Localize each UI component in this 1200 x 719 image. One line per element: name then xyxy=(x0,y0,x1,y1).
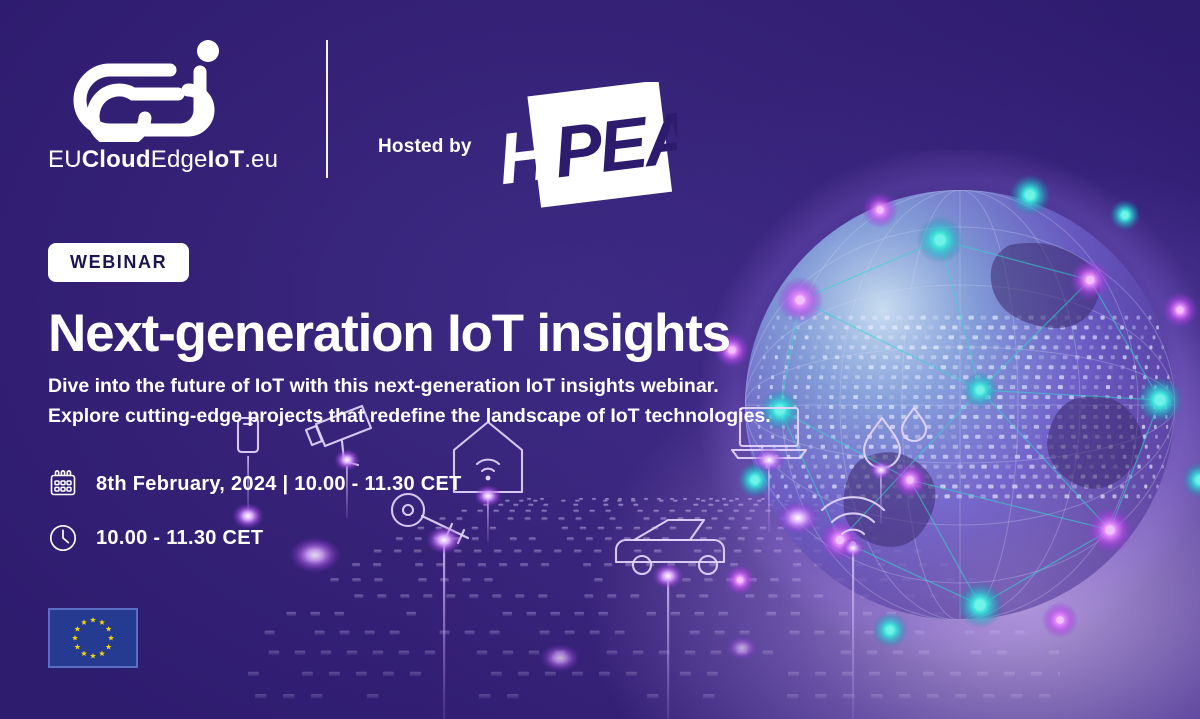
calendar-icon xyxy=(48,469,78,499)
event-time-row: 10.00 - 11.30 CET xyxy=(48,516,462,560)
webinar-badge: WEBINAR xyxy=(48,243,189,282)
wordmark-part-eu: EU xyxy=(48,146,82,173)
wifi-signal-icon xyxy=(822,497,884,547)
page-description: Dive into the future of IoT with this ne… xyxy=(48,372,888,431)
eu-flag-icon xyxy=(48,608,138,668)
clock-icon xyxy=(48,523,78,553)
wordmark-part-edge: Edge xyxy=(151,146,208,173)
event-date-row: 8th February, 2024 | 10.00 - 11.30 CET xyxy=(48,462,462,506)
header-divider xyxy=(326,40,328,178)
page-title: Next-generation IoT insights xyxy=(48,303,730,364)
wordmark-part-cloud: Cloud xyxy=(82,146,151,173)
car-icon xyxy=(616,520,724,574)
brand-block[interactable]: EUCloudEdgeIoT.eu xyxy=(48,34,298,174)
smart-home-wifi-icon xyxy=(454,422,522,492)
cei-cloud-logo-icon xyxy=(48,34,233,142)
webinar-promo-banner: EUCloudEdgeIoT.eu Hosted by Hi PEAC WEBI… xyxy=(0,0,1200,719)
host-block: Hosted by Hi PEAC xyxy=(378,82,677,212)
wordmark-part-tld: .eu xyxy=(244,146,278,173)
event-date-text: 8th February, 2024 | 10.00 - 11.30 CET xyxy=(96,473,462,496)
event-meta: 8th February, 2024 | 10.00 - 11.30 CET 1… xyxy=(48,462,462,570)
hosted-by-label: Hosted by xyxy=(378,136,472,158)
description-line-2: Explore cutting-edge projects that redef… xyxy=(48,402,888,432)
wordmark-part-iot: IoT xyxy=(208,146,245,173)
hipeac-logo-icon: Hi PEAC xyxy=(492,82,677,212)
banner-header: EUCloudEdgeIoT.eu Hosted by Hi PEAC xyxy=(48,34,677,212)
brand-wordmark: EUCloudEdgeIoT.eu xyxy=(48,146,298,174)
description-line-1: Dive into the future of IoT with this ne… xyxy=(48,372,888,402)
event-time-text: 10.00 - 11.30 CET xyxy=(96,527,263,550)
